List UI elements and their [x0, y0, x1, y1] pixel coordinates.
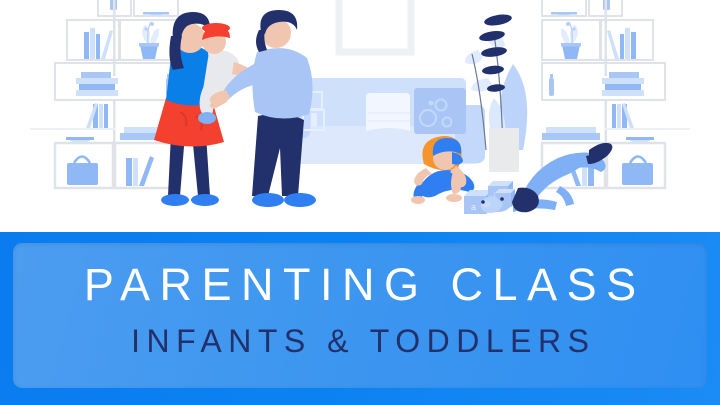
illustration-scene: a b	[0, 0, 720, 232]
parenting-class-poster: a b	[0, 0, 720, 405]
shelf-handbag-left	[67, 157, 98, 186]
bookshelf-left	[30, 0, 178, 188]
wall-picture-frame	[339, 0, 411, 52]
svg-text:a: a	[471, 202, 476, 212]
shelf-book-stack-left	[76, 72, 118, 96]
shelf-plant-left	[139, 22, 159, 59]
page-subtitle: INFANTS & TODDLERS	[0, 322, 720, 360]
page-title: PARENTING CLASS	[0, 259, 720, 311]
scene-svg: a b	[0, 0, 720, 232]
